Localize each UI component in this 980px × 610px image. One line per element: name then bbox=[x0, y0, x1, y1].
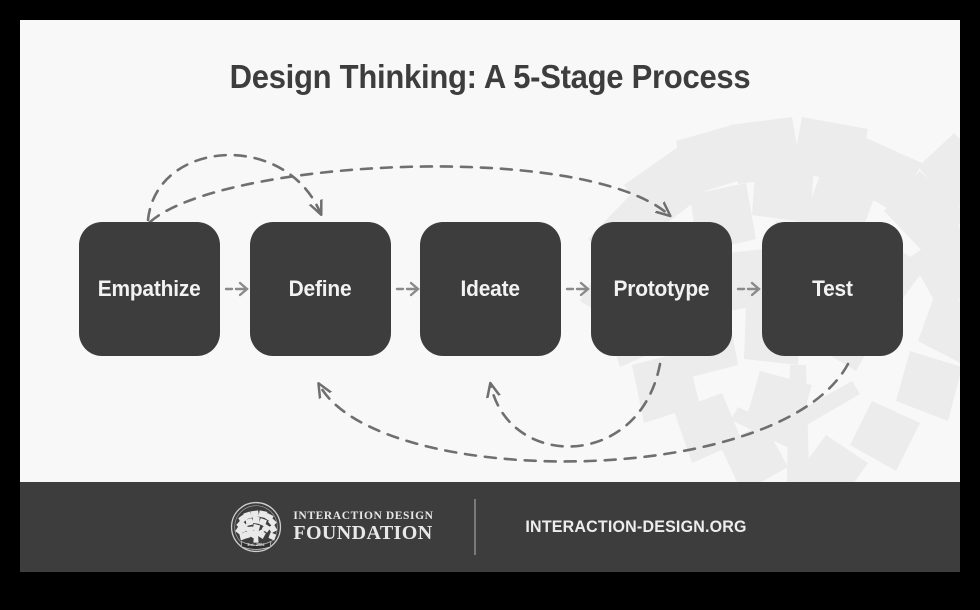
arrow-right-icon bbox=[394, 275, 424, 303]
stage-box-test[interactable]: Test bbox=[762, 222, 903, 356]
process-diagram: Empathize Define Ideate Prototype Test bbox=[20, 20, 960, 490]
slide-card: Design Thinking: A 5-Stage Process bbox=[20, 20, 960, 572]
stage-label: Empathize bbox=[98, 276, 201, 302]
idf-tree-logo-icon[interactable]: Est. 2002 bbox=[230, 501, 282, 553]
stage-label: Ideate bbox=[461, 276, 520, 302]
footer-url[interactable]: INTERACTION-DESIGN.ORG bbox=[525, 518, 746, 537]
arrow-right-icon bbox=[564, 275, 594, 303]
slide-root: Design Thinking: A 5-Stage Process bbox=[0, 0, 980, 610]
footer-bar: Est. 2002 INTERACTION DESIGN FOUNDATION … bbox=[20, 482, 960, 572]
arrow-right-icon bbox=[735, 275, 765, 303]
stage-box-ideate[interactable]: Ideate bbox=[420, 222, 561, 356]
stage-box-prototype[interactable]: Prototype bbox=[591, 222, 732, 356]
stage-box-define[interactable]: Define bbox=[250, 222, 391, 356]
stage-label: Prototype bbox=[614, 276, 710, 302]
stage-label: Test bbox=[812, 276, 853, 302]
stage-label: Define bbox=[289, 276, 352, 302]
arrow-right-icon bbox=[223, 275, 253, 303]
footer-content: Est. 2002 INTERACTION DESIGN FOUNDATION … bbox=[230, 499, 749, 555]
brand-line-2: FOUNDATION bbox=[293, 523, 433, 544]
stage-box-empathize[interactable]: Empathize bbox=[79, 222, 220, 356]
logo-est-text: Est. 2002 bbox=[248, 542, 266, 547]
footer-divider bbox=[474, 499, 476, 555]
brand-wordmark: INTERACTION DESIGN FOUNDATION bbox=[293, 510, 433, 544]
